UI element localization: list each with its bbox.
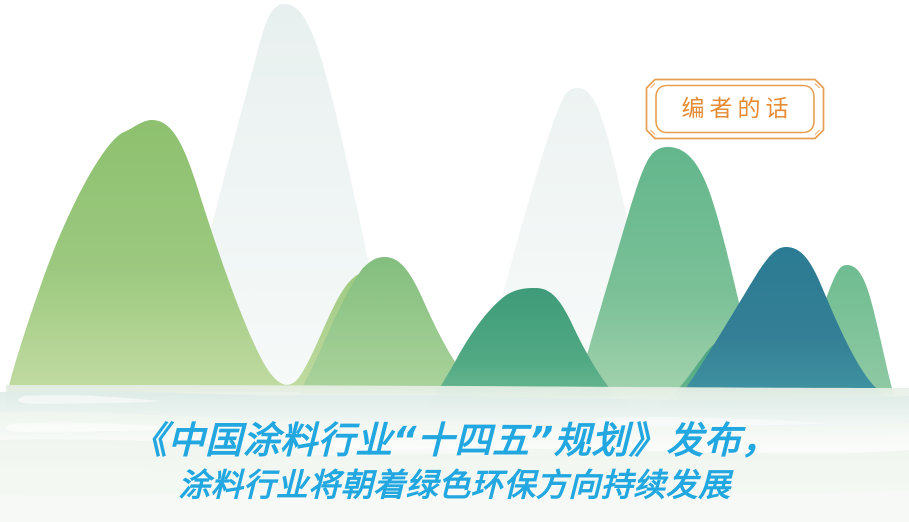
editor-note-badge: 编者的话	[645, 78, 825, 140]
editor-note-label: 编者的话	[645, 78, 825, 140]
headline-line-1: 《中国涂料行业“十四五”规划》发布，	[0, 418, 909, 464]
poster-canvas: 编者的话 《中国涂料行业“十四五”规划》发布， 涂料行业将朝着绿色环保方向持续发…	[0, 0, 909, 522]
headline-line-2: 涂料行业将朝着绿色环保方向持续发展	[0, 464, 909, 506]
headline-block: 《中国涂料行业“十四五”规划》发布， 涂料行业将朝着绿色环保方向持续发展	[0, 418, 909, 506]
green-ranges	[8, 120, 906, 411]
